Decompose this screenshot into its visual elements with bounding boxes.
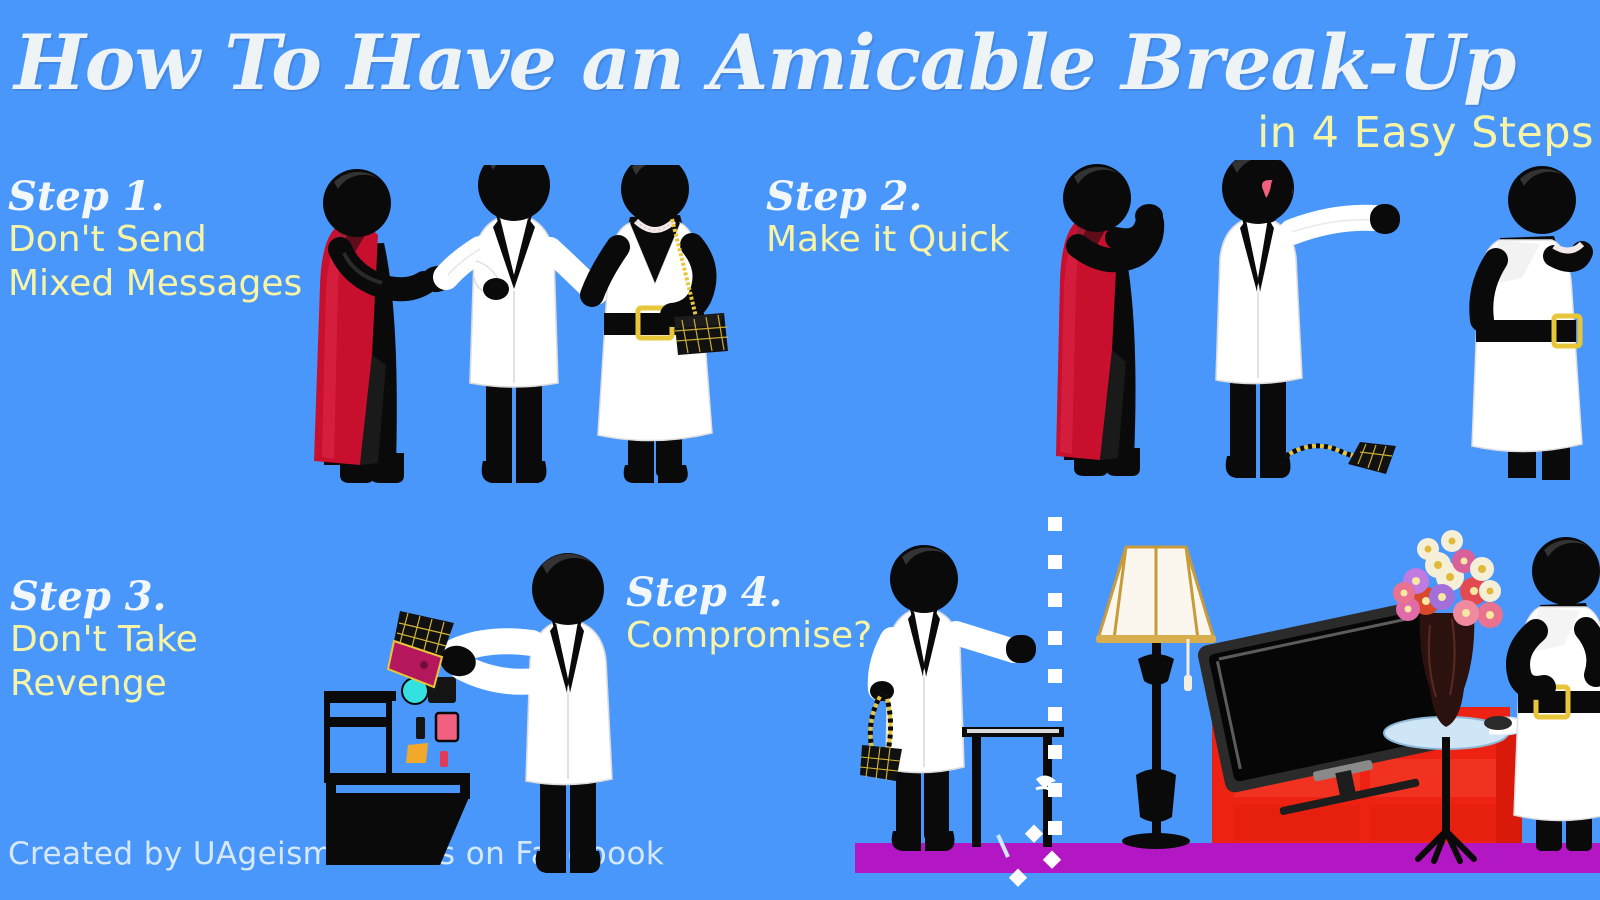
step-3-number: Step 3. xyxy=(10,576,198,618)
woman-in-white-dress xyxy=(592,165,728,483)
page-subtitle: in 4 Easy Steps xyxy=(1257,108,1594,158)
step-4-illustration xyxy=(830,505,1600,900)
step-3-line-2: Revenge xyxy=(10,662,198,706)
infographic-poster: How To Have an Amicable Break-Up in 4 Ea… xyxy=(0,0,1600,900)
step-1-number: Step 1. xyxy=(8,176,302,218)
step-3-label-block: Step 3. Don't Take Revenge xyxy=(10,576,198,706)
page-title: How To Have an Amicable Break-Up xyxy=(14,18,1515,107)
step-1-label-block: Step 1. Don't Send Mixed Messages xyxy=(8,176,302,306)
falling-items xyxy=(402,677,458,767)
step-2-number: Step 2. xyxy=(766,176,1010,218)
quilted-purse xyxy=(388,611,454,687)
step-1-line-2: Mixed Messages xyxy=(8,262,302,306)
quilted-handbag xyxy=(674,313,728,355)
step-1-illustration xyxy=(300,165,770,485)
woman-in-red-dress-upset xyxy=(1056,164,1163,476)
step-3-illustration xyxy=(300,545,630,885)
man-with-handbag xyxy=(860,545,1036,851)
pearl-necklace xyxy=(1554,244,1582,251)
man-in-white-tuxedo xyxy=(446,165,596,483)
step-2-label-block: Step 2. Make it Quick xyxy=(766,176,1010,262)
dotted-divider xyxy=(998,517,1062,887)
dropped-handbag xyxy=(1286,442,1396,474)
woman-in-white-dress-walking-away xyxy=(1472,166,1582,480)
floor-lamp xyxy=(1096,547,1216,849)
purple-carpet xyxy=(855,843,1600,873)
man-in-white-tuxedo-with-lipstick-mark xyxy=(1216,160,1400,478)
woman-in-red-dress xyxy=(314,169,455,483)
step-2-illustration xyxy=(1030,160,1600,490)
step-3-line-1: Don't Take xyxy=(10,618,198,662)
step-2-line-1: Make it Quick xyxy=(766,218,1010,262)
woman-in-white-dress-right xyxy=(1514,537,1600,851)
step-1-line-1: Don't Send xyxy=(8,218,302,262)
